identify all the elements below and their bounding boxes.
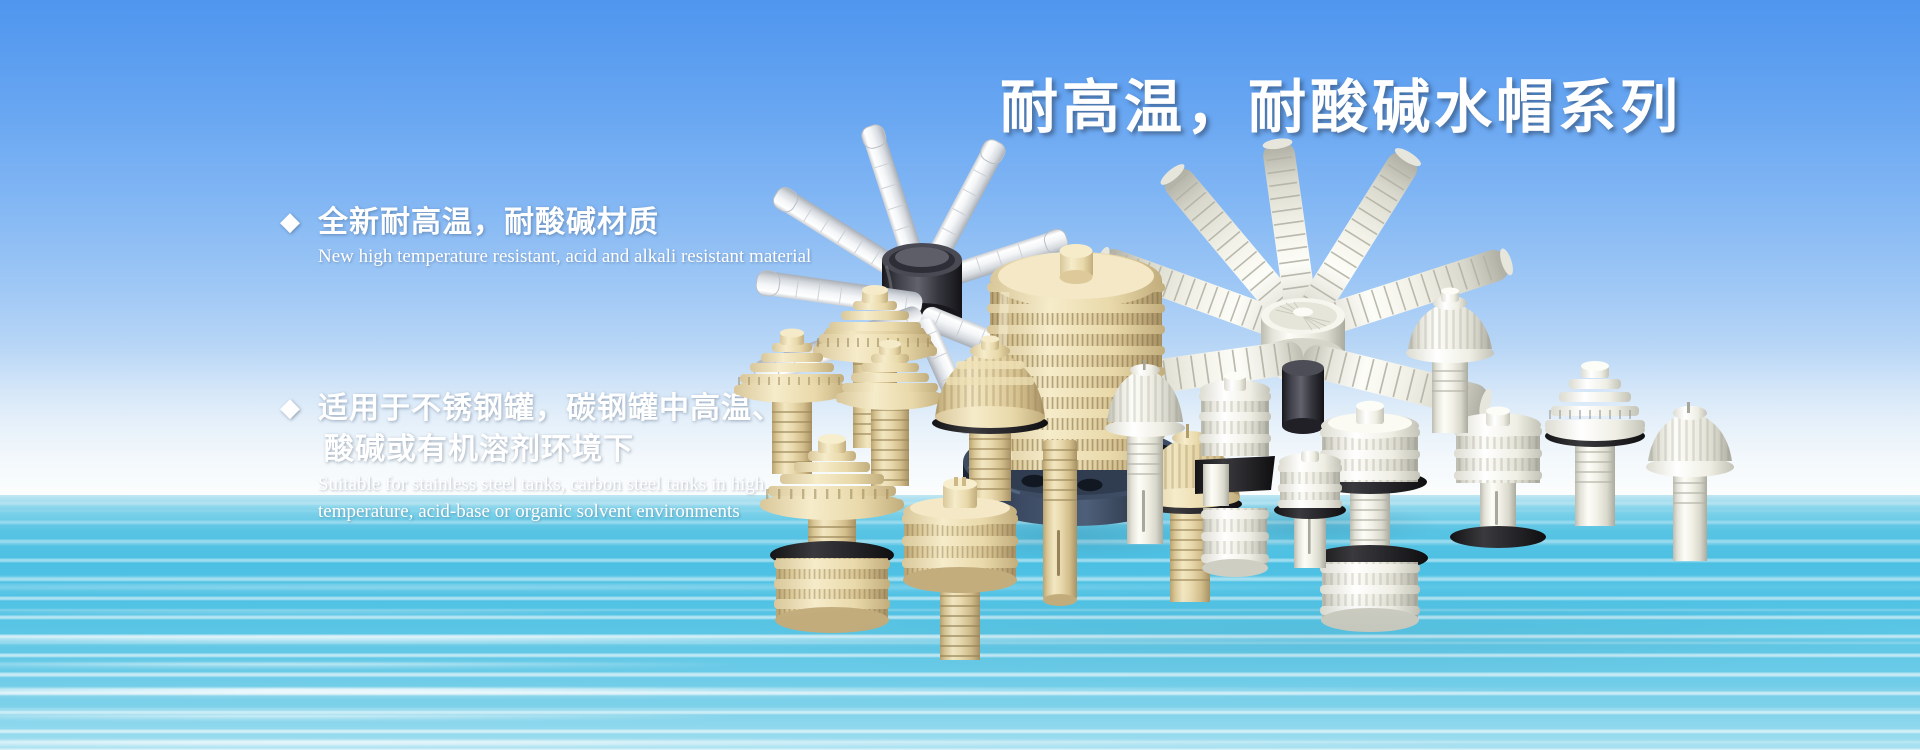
right-hub-stem (1282, 360, 1324, 434)
product-cluster-image (690, 120, 1920, 680)
diamond-bullet-icon: ◆ (280, 208, 300, 234)
beige-slim-stem (1043, 440, 1077, 606)
diamond-bullet-icon: ◆ (280, 394, 300, 420)
cream-nozzle-6 (1545, 361, 1645, 526)
feature-1-cn-line-1: 全新耐高温，耐酸碱材质 (318, 202, 659, 243)
cream-nozzle-2 (1195, 372, 1275, 577)
cream-nozzle-8 (1646, 402, 1734, 561)
product-banner: 耐高温，耐酸碱水帽系列 ◆ 全新耐高温，耐酸碱材质 New high tempe… (0, 0, 1920, 750)
